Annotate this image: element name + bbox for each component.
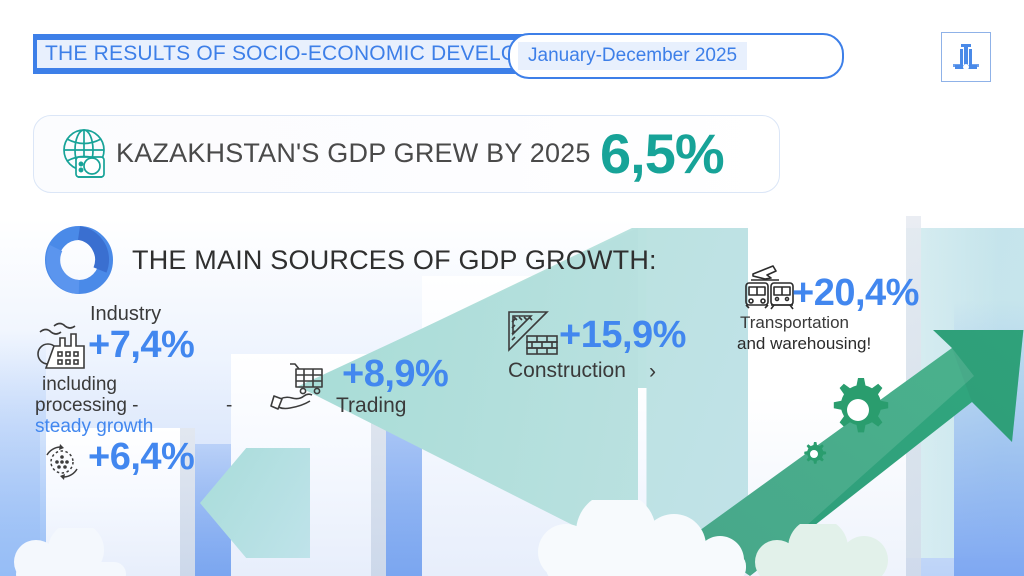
metric-processing-label-1: including	[42, 374, 117, 396]
plane-bus-train-icon	[743, 262, 797, 314]
government-monument-icon	[941, 32, 991, 82]
metric-transport-value: +20,4%	[792, 274, 919, 312]
gdp-banner-text: KAZAKHSTAN'S GDP GREW BY 2025	[116, 138, 591, 169]
sources-heading-row: THE MAIN SOURCES OF GDP GROWTH:	[40, 222, 657, 298]
metric-trading-value: +8,9%	[342, 355, 448, 393]
metric-industry-value: +7,4%	[88, 326, 194, 364]
page-header: THE RESULTS OF SOCIO-ECONOMIC DEVELOPMEN…	[0, 0, 1024, 100]
metric-industry-label: Industry	[90, 304, 161, 326]
gdp-value: 6,5%	[600, 121, 724, 186]
period-pill[interactable]: January-December 2025	[508, 33, 844, 79]
cloud-icon	[0, 528, 150, 576]
cloud-icon	[732, 524, 922, 576]
infographic-canvas: THE RESULTS OF SOCIO-ECONOMIC DEVELOPMEN…	[0, 0, 1024, 576]
gear-icon	[800, 440, 828, 468]
metric-processing-label-2b: -	[226, 395, 232, 417]
metric-trading-label: Trading	[336, 395, 406, 418]
metric-processing-value: +6,4%	[88, 438, 194, 476]
metric-processing-label-3: steady growth	[35, 416, 153, 438]
factory-icon	[36, 320, 90, 370]
sources-heading: THE MAIN SOURCES OF GDP GROWTH:	[132, 245, 657, 276]
shopping-cart-hand-icon	[270, 360, 334, 412]
metric-construction-label-2: ›	[649, 360, 656, 384]
donut-chart-icon	[40, 221, 118, 299]
metric-transport-label: Transportation	[740, 314, 849, 332]
metric-processing-label-2: processing -	[35, 395, 139, 417]
ruler-bricks-icon	[505, 310, 563, 362]
gdp-banner: KAZAKHSTAN'S GDP GREW BY 2025 6,5%	[33, 115, 780, 193]
globe-chart-icon	[56, 124, 118, 186]
metric-construction-value: +15,9%	[559, 316, 686, 354]
metric-transport-label-2: and warehousing!	[737, 334, 871, 354]
recycle-molecule-icon	[40, 442, 84, 482]
metric-construction-label: Construction	[508, 360, 626, 383]
period-label: January-December 2025	[528, 45, 737, 67]
gear-icon	[820, 372, 896, 448]
